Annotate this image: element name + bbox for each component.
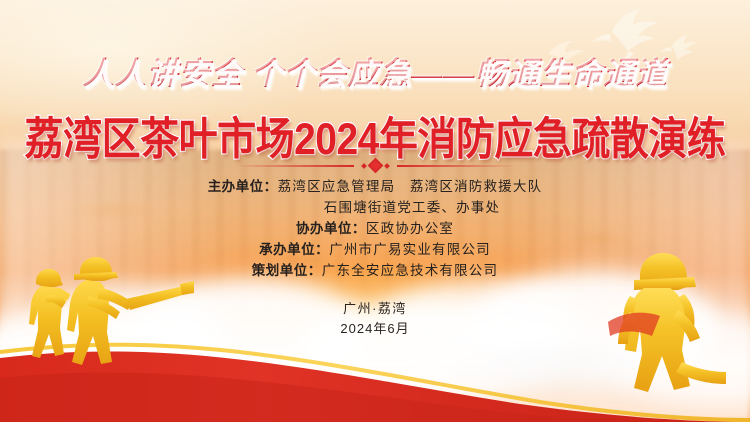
organizer-value: 区政协办公室: [366, 221, 454, 236]
poster-footer: 广州·荔湾 2024年6月: [0, 299, 750, 339]
organizer-value: 石围塘街道党工委、办事处: [324, 200, 500, 215]
organizer-row: 承办单位：广州市广易实业有限公司: [0, 239, 750, 260]
diamond-ornament-icon: [362, 160, 389, 171]
organizer-label: 协办单位：: [296, 221, 366, 236]
organizer-row: 协办单位：区政协办公室: [0, 218, 750, 239]
organizer-list: 主办单位：荔湾区应急管理局 荔湾区消防救援大队 石围塘街道党工委、办事处 协办单…: [0, 176, 750, 281]
organizer-row: 石围塘街道党工委、办事处: [0, 197, 750, 218]
organizer-label: 主办单位：: [208, 179, 278, 194]
poster-canvas: 人人讲安全 个个会应急——畅通生命通道 荔湾区茶叶市场2024年消防应急疏散演练…: [0, 0, 750, 422]
organizer-value: 广州市广易实业有限公司: [329, 242, 491, 257]
poster-text-content: 人人讲安全 个个会应急——畅通生命通道 荔湾区茶叶市场2024年消防应急疏散演练…: [0, 0, 750, 422]
organizer-row: 主办单位：荔湾区应急管理局 荔湾区消防救援大队: [0, 176, 750, 197]
poster-slogan: 人人讲安全 个个会应急——畅通生命通道: [0, 48, 750, 93]
divider-line-left: [234, 165, 354, 167]
organizer-row: 策划单位：广东全安应急技术有限公司: [0, 260, 750, 281]
divider-line-right: [397, 165, 517, 167]
organizer-label: 策划单位：: [252, 263, 322, 278]
organizer-value: 荔湾区应急管理局 荔湾区消防救援大队: [278, 179, 543, 194]
organizer-label: 承办单位：: [259, 242, 329, 257]
footer-location: 广州·荔湾: [0, 299, 750, 319]
footer-date: 2024年6月: [0, 319, 750, 339]
divider-ornament: [0, 160, 750, 171]
organizer-value: 广东全安应急技术有限公司: [322, 263, 498, 278]
